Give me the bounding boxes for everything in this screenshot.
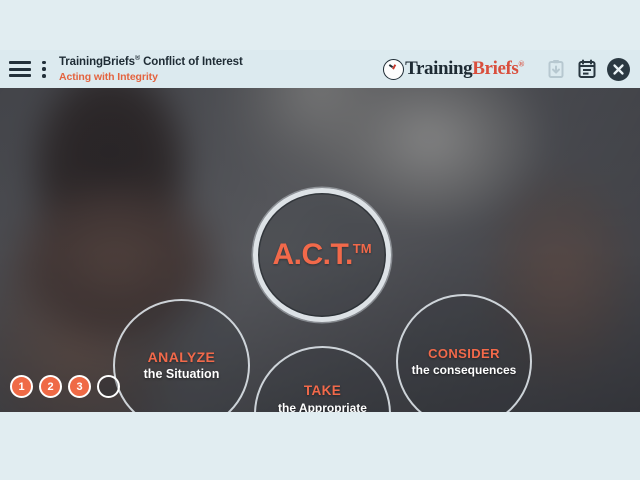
pager-step-1[interactable]: 1 [10, 375, 33, 398]
slide-stage: A.C.T.TM ANALYZE the Situation TAKE the … [0, 88, 640, 412]
clock-icon [383, 59, 404, 80]
trademark-mark: TM [353, 241, 372, 256]
consider-heading: CONSIDER [428, 346, 500, 361]
notes-icon[interactable] [576, 58, 598, 80]
course-title: TrainingBriefs® Conflict of Interest [59, 55, 243, 69]
hamburger-bar [9, 61, 31, 64]
brand-registered-mark: ® [518, 60, 524, 69]
hamburger-bar [9, 68, 31, 71]
kebab-dot [42, 61, 46, 65]
course-subtitle: Acting with Integrity [59, 71, 243, 83]
close-icon[interactable] [607, 58, 630, 81]
analyze-heading: ANALYZE [148, 349, 216, 365]
download-icon[interactable] [545, 58, 567, 80]
analyze-body: the Situation [132, 367, 232, 383]
player-window: TrainingBriefs® Conflict of Interest Act… [0, 0, 640, 480]
act-label: A.C.T.TM [272, 238, 371, 272]
brand-word-briefs: Briefs [472, 58, 518, 79]
brand-word-training: Training [405, 58, 472, 79]
brand-wordmark: TrainingBriefs® [405, 58, 524, 80]
take-heading: TAKE [304, 383, 341, 398]
kebab-dot [42, 74, 46, 78]
hamburger-bar [9, 74, 31, 77]
consider-body: the consequences [400, 363, 529, 378]
course-title-rest: Conflict of Interest [140, 56, 243, 68]
act-center-circle[interactable]: A.C.T.TM [253, 188, 391, 322]
pager-step-2[interactable]: 2 [39, 375, 62, 398]
kebab-menu-icon[interactable] [39, 61, 49, 78]
act-text: A.C.T. [272, 238, 352, 271]
hamburger-icon[interactable] [9, 61, 31, 77]
pager-step-4[interactable] [97, 375, 120, 398]
trainingbriefs-logo: TrainingBriefs® [383, 58, 524, 80]
pager-step-3[interactable]: 3 [68, 375, 91, 398]
take-body: the Appropriate Action to Maintain Integ… [256, 401, 389, 412]
kebab-dot [42, 67, 46, 71]
step-pager: 1 2 3 [10, 375, 120, 398]
course-title-brand: TrainingBriefs [59, 56, 135, 68]
app-header: TrainingBriefs® Conflict of Interest Act… [0, 50, 640, 88]
course-title-block: TrainingBriefs® Conflict of Interest Act… [59, 55, 243, 83]
